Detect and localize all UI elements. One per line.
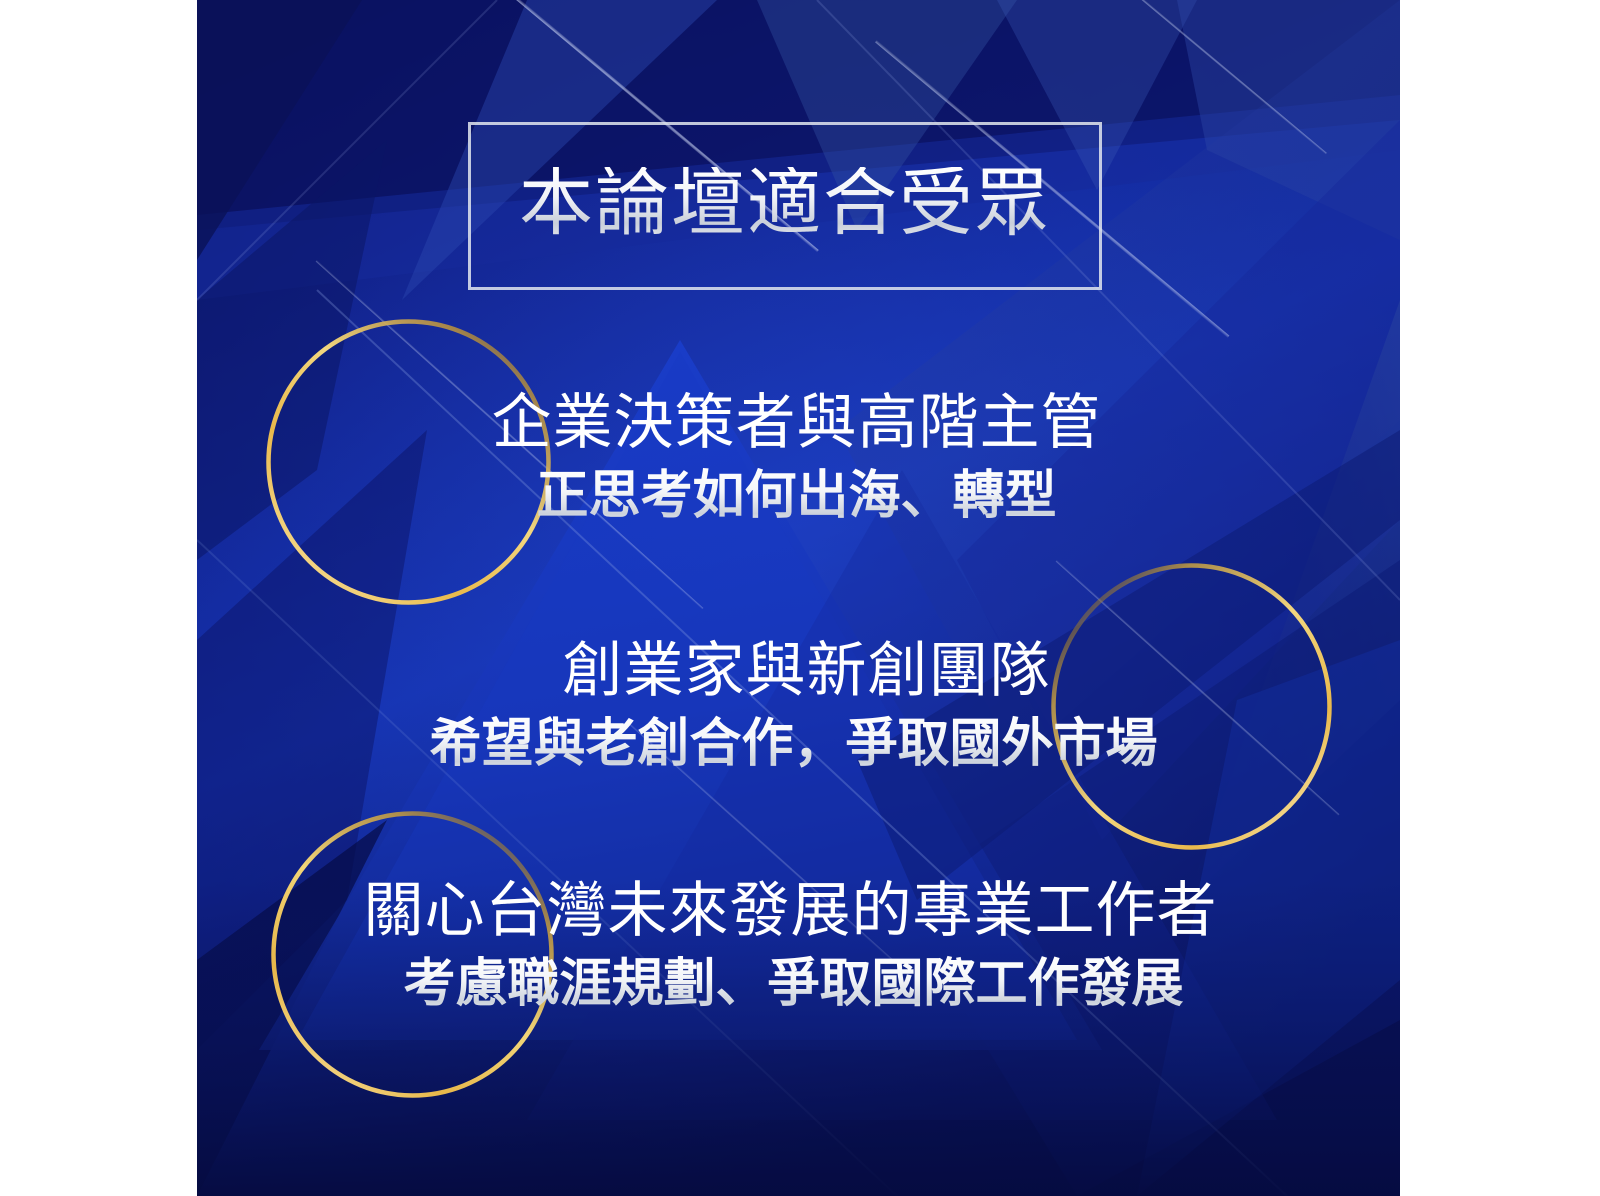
audience-group-3: 關心台灣未來發展的專業工作者 考慮職涯規劃、爭取國際工作發展 <box>197 878 1400 1015</box>
audience-group-3-subtext: 考慮職涯規劃、爭取國際工作發展 <box>197 955 1395 1015</box>
audience-group-2: 創業家與新創團隊 希望與老創合作，爭取國外市場 <box>197 638 1400 775</box>
left-margin <box>0 0 197 1196</box>
audience-group-2-subtext: 希望與老創合作，爭取國外市場 <box>197 715 1395 775</box>
title-frame: 本論壇適合受眾 <box>468 122 1102 290</box>
audience-group-1-heading: 企業決策者與高階主管 <box>197 390 1398 457</box>
audience-group-1-subtext: 正思考如何出海、轉型 <box>197 467 1398 527</box>
screenshot-canvas: 本論壇適合受眾 企業決策者與高階主管 正思考如何出海、轉型 創業家與新創團隊 希… <box>0 0 1600 1196</box>
audience-group-2-heading: 創業家與新創團隊 <box>205 638 1400 705</box>
audience-group-3-heading: 關心台灣未來發展的專業工作者 <box>197 878 1392 945</box>
right-margin <box>1400 0 1600 1196</box>
presentation-slide: 本論壇適合受眾 企業決策者與高階主管 正思考如何出海、轉型 創業家與新創團隊 希… <box>197 0 1400 1196</box>
page-title: 本論壇適合受眾 <box>519 167 1051 245</box>
audience-group-1: 企業決策者與高階主管 正思考如何出海、轉型 <box>197 390 1400 527</box>
